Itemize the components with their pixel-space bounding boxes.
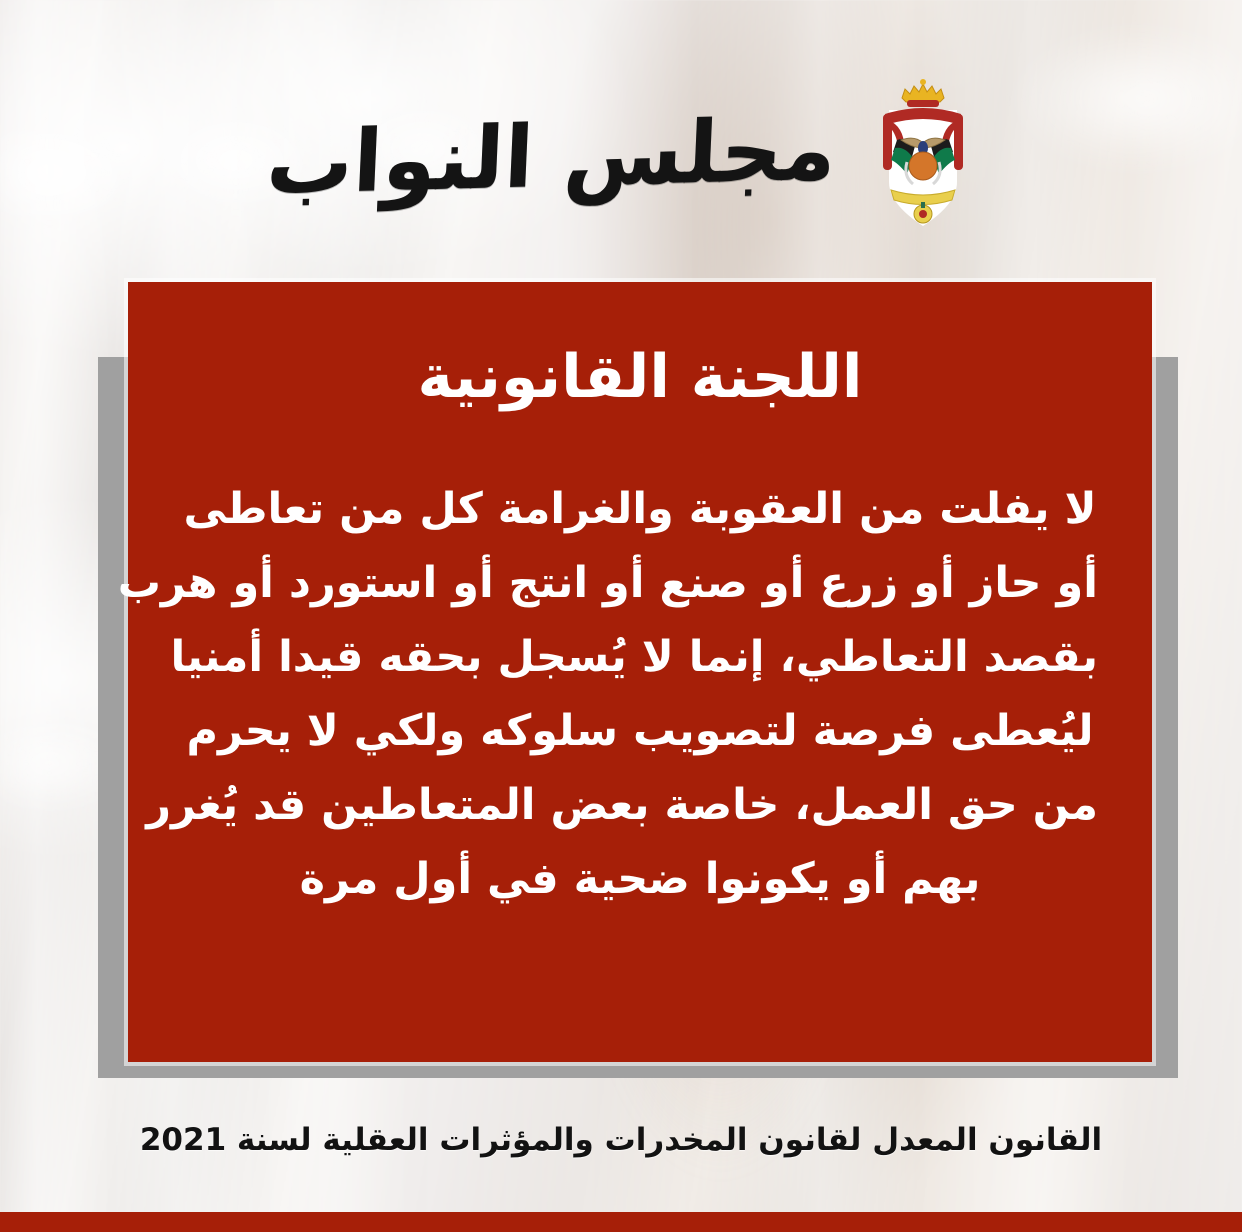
body-line: أو حاز أو زرع أو صنع أو انتج أو استورد أ… [182, 547, 1098, 621]
coat-of-arms-of-jordan-icon [871, 78, 975, 236]
statement-panel-content: اللجنة القانونية لا يفلت من العقوبة والغ… [128, 282, 1152, 1062]
panel-body: لا يفلت من العقوبة والغرامة كل من تعاطى … [176, 473, 1104, 917]
body-line: بقصد التعاطي، إنما لا يُسجل بحقه قيدا أم… [182, 621, 1098, 695]
poster-canvas: مجلس النواب [0, 0, 1242, 1232]
bottom-accent-bar [0, 1212, 1242, 1232]
body-line: ليُعطى فرصة لتصويب سلوكه ولكي لا يحرم [182, 695, 1098, 769]
body-line: من حق العمل، خاصة بعض المتعاطين قد يُغرر [182, 769, 1098, 843]
header: مجلس النواب [0, 72, 1242, 242]
body-line: لا يفلت من العقوبة والغرامة كل من تعاطى [182, 473, 1098, 547]
organization-name: مجلس النواب [264, 107, 837, 208]
panel-title: اللجنة القانونية [176, 340, 1104, 415]
body-line: بهم أو يكونوا ضحية في أول مرة [182, 843, 1098, 917]
footer-caption: القانون المعدل لقانون المخدرات والمؤثرات… [0, 1122, 1242, 1158]
statement-panel: اللجنة القانونية لا يفلت من العقوبة والغ… [128, 282, 1152, 1062]
